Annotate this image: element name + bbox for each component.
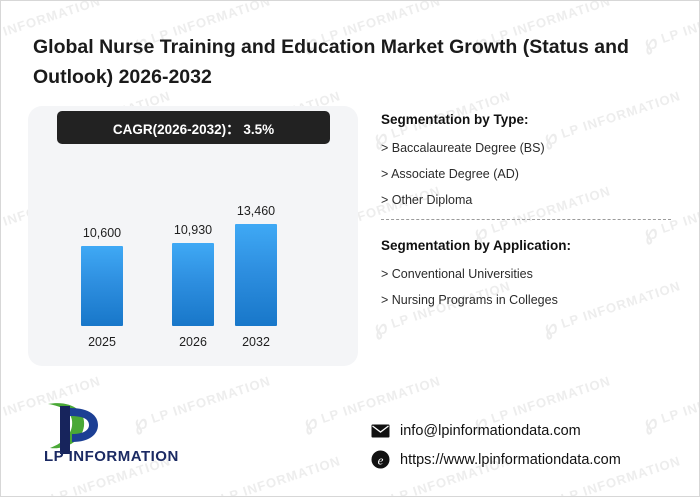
segmentation-application-item-0: > Conventional Universities xyxy=(381,267,671,281)
segmentation-application-heading: Segmentation by Application: xyxy=(381,238,671,253)
watermark-logo-icon: ℘ xyxy=(540,488,562,497)
contact-row-website: e https://www.lpinformationdata.com xyxy=(371,450,681,469)
watermark-item: ℘LP INFORMATION xyxy=(200,448,344,497)
contact-email-text[interactable]: info@lpinformationdata.com xyxy=(400,423,581,439)
page-title: Global Nurse Training and Education Mark… xyxy=(33,32,653,92)
bar-2026 xyxy=(172,243,214,326)
bar-label-2025: 2025 xyxy=(88,335,116,349)
watermark-text: LP INFORMATION xyxy=(489,373,612,426)
segmentation-type-heading: Segmentation by Type: xyxy=(381,112,671,127)
contact-row-email: info@lpinformationdata.com xyxy=(371,421,681,440)
contact-block: info@lpinformationdata.com e https://www… xyxy=(371,421,681,479)
segmentation-panel: Segmentation by Type: > Baccalaureate De… xyxy=(381,112,671,319)
bar-2025 xyxy=(81,246,123,326)
watermark-text: LP INFORMATION xyxy=(319,373,442,426)
bar-group-2026: 10,930 2026 xyxy=(161,243,225,326)
bar-group-2025: 10,600 2025 xyxy=(70,246,134,326)
section-divider xyxy=(381,219,671,220)
watermark-logo-icon: ℘ xyxy=(30,488,52,497)
segmentation-application-item-1: > Nursing Programs in Colleges xyxy=(381,293,671,307)
bar-value-2032: 13,460 xyxy=(237,204,275,218)
watermark-text: LP INFORMATION xyxy=(659,373,700,426)
watermark-logo-icon: ℘ xyxy=(370,488,392,497)
bar-value-2025: 10,600 xyxy=(83,226,121,240)
watermark-logo-icon: ℘ xyxy=(200,488,222,497)
bar-2032 xyxy=(235,224,277,326)
segmentation-type-item-0: > Baccalaureate Degree (BS) xyxy=(381,141,671,155)
contact-website-text[interactable]: https://www.lpinformationdata.com xyxy=(400,452,621,468)
bar-chart: 10,600 2025 10,930 2026 13,460 2032 xyxy=(28,106,358,366)
bar-value-2026: 10,930 xyxy=(174,223,212,237)
bar-label-2032: 2032 xyxy=(242,335,270,349)
watermark-text: LP INFORMATION xyxy=(219,453,342,497)
globe-icon: e xyxy=(371,450,390,469)
logo-text: LP INFORMATION xyxy=(44,448,179,465)
bar-group-2032: 13,460 2032 xyxy=(224,224,288,326)
watermark-logo-icon: ℘ xyxy=(300,408,322,436)
bar-label-2026: 2026 xyxy=(179,335,207,349)
svg-text:e: e xyxy=(378,453,384,468)
segmentation-type-item-1: > Associate Degree (AD) xyxy=(381,167,671,181)
envelope-icon xyxy=(371,421,390,440)
watermark-text: LP INFORMATION xyxy=(659,0,700,46)
segmentation-type-item-2: > Other Diploma xyxy=(381,193,671,207)
